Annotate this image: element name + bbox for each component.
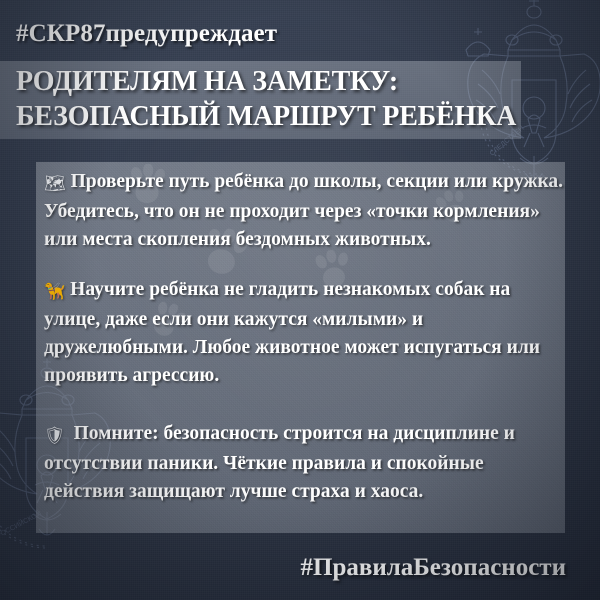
background-vignette bbox=[0, 0, 600, 600]
poster-root: СЛЕДСТВЕН РОССИЙСКОЙ bbox=[0, 0, 600, 600]
